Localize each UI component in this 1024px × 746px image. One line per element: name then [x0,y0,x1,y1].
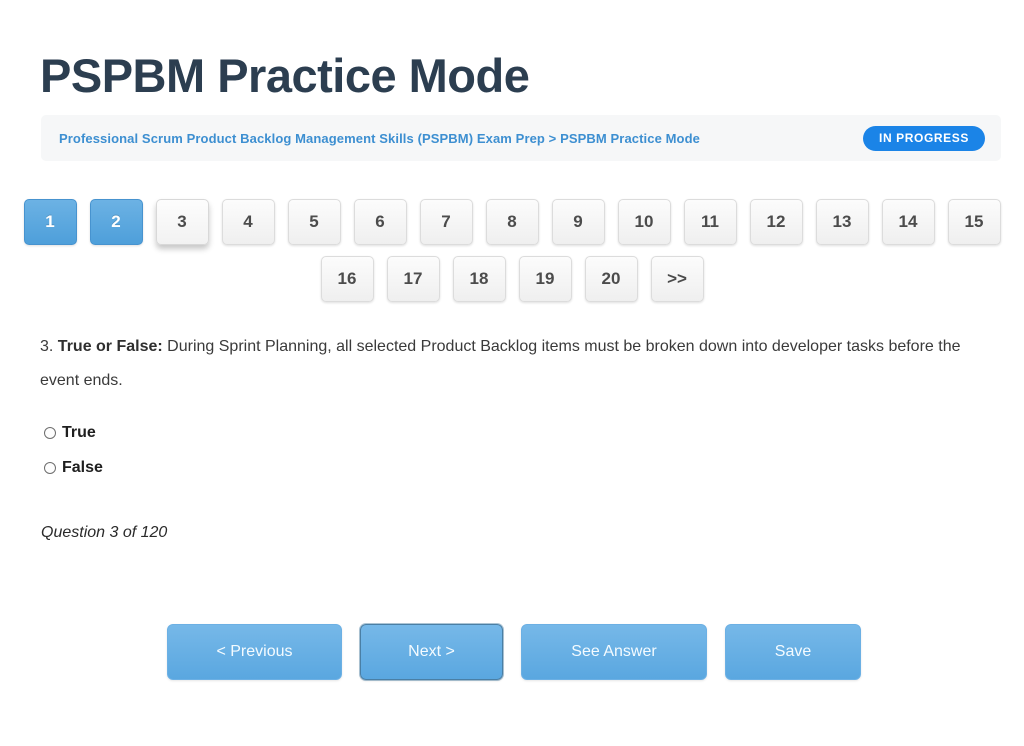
question-body: During Sprint Planning, all selected Pro… [40,338,961,389]
option-row-true[interactable]: True [44,420,103,446]
pagination-button-17[interactable]: 17 [387,256,440,302]
pagination-button-7[interactable]: 7 [420,199,473,245]
pagination-button-19[interactable]: 19 [519,256,572,302]
pagination-button-nextnext[interactable]: >> [651,256,704,302]
question-counter: Question 3 of 120 [41,524,167,542]
option-label-false: False [62,459,103,477]
pagination-button-18[interactable]: 18 [453,256,506,302]
pagination-button-13[interactable]: 13 [816,199,869,245]
pagination-button-6[interactable]: 6 [354,199,407,245]
pagination-row-1: 123456789101112131415 [0,199,1024,245]
practice-mode-page: PSPBM Practice Mode Professional Scrum P… [0,0,1024,746]
see-answer-button[interactable]: See Answer [521,624,707,680]
action-bar: < Previous Next > See Answer Save [167,624,861,680]
answer-options: TrueFalse [44,420,103,490]
question-number: 3. [40,338,53,355]
pagination-button-8[interactable]: 8 [486,199,539,245]
pagination-button-9[interactable]: 9 [552,199,605,245]
radio-true-icon[interactable] [44,427,56,439]
pagination-button-16[interactable]: 16 [321,256,374,302]
option-label-true: True [62,424,96,442]
breadcrumb-bar: Professional Scrum Product Backlog Manag… [41,115,1001,161]
pagination-button-14[interactable]: 14 [882,199,935,245]
pagination-button-12[interactable]: 12 [750,199,803,245]
pagination-button-1[interactable]: 1 [24,199,77,245]
save-button[interactable]: Save [725,624,861,680]
question-pagination: 123456789101112131415 1617181920>> [0,199,1024,313]
pagination-button-10[interactable]: 10 [618,199,671,245]
pagination-button-5[interactable]: 5 [288,199,341,245]
previous-button[interactable]: < Previous [167,624,342,680]
pagination-button-4[interactable]: 4 [222,199,275,245]
next-button[interactable]: Next > [360,624,503,680]
radio-false-icon[interactable] [44,462,56,474]
pagination-row-2: 1617181920>> [0,256,1024,302]
page-title: PSPBM Practice Mode [40,49,529,103]
breadcrumb[interactable]: Professional Scrum Product Backlog Manag… [59,131,700,146]
pagination-button-15[interactable]: 15 [948,199,1001,245]
option-row-false[interactable]: False [44,455,103,481]
pagination-button-11[interactable]: 11 [684,199,737,245]
status-badge: IN PROGRESS [863,126,985,151]
question-text: 3. True or False: During Sprint Planning… [40,330,992,398]
pagination-button-2[interactable]: 2 [90,199,143,245]
pagination-button-20[interactable]: 20 [585,256,638,302]
question-prompt-label: True or False: [58,338,163,355]
pagination-button-3[interactable]: 3 [156,199,209,245]
